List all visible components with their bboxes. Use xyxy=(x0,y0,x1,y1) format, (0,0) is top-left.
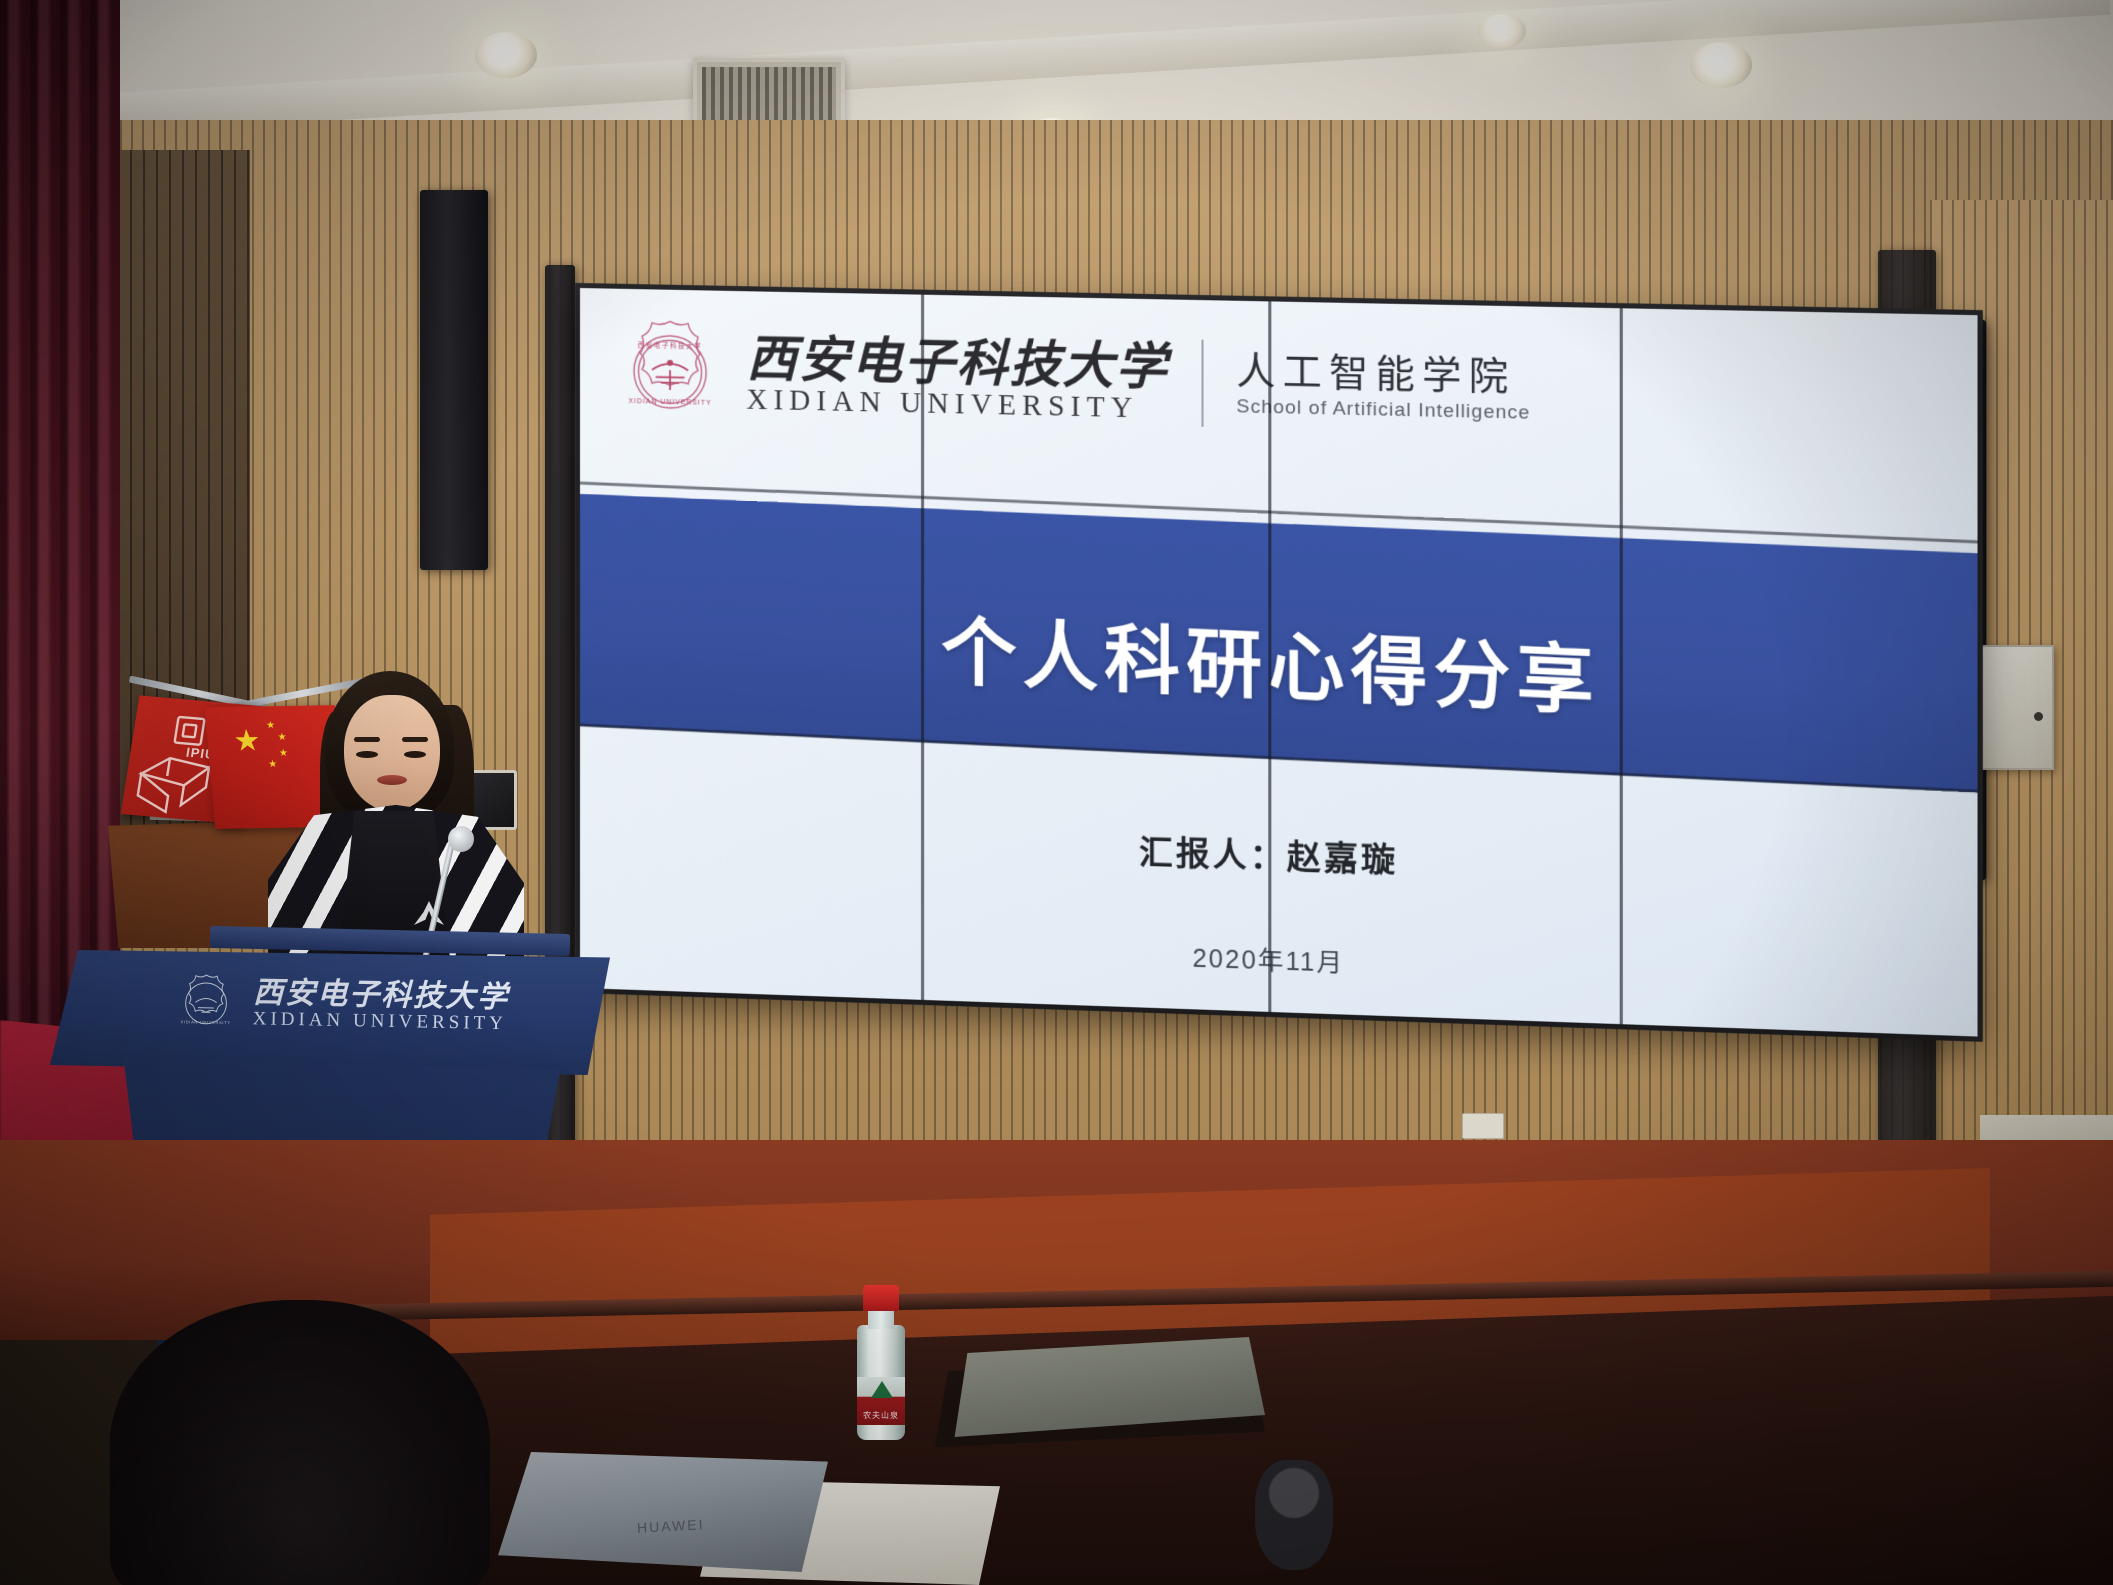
podium-university-branding: XIDIAN UNIVERSITY 西安电子科技大学 XIDIAN UNIVER… xyxy=(174,972,509,1040)
panel-seam-vertical xyxy=(1620,308,1623,1024)
bottle-label: 农夫山泉 xyxy=(857,1377,905,1425)
huawei-laptop[interactable]: HUAWEI xyxy=(498,1452,828,1572)
podium-university-cn: 西安电子科技大学 xyxy=(253,978,510,1013)
wall-outlet xyxy=(1462,1113,1504,1139)
panel-latch-icon xyxy=(2034,712,2043,721)
slide-presenter: 汇报人：赵嘉璇 xyxy=(580,808,1978,901)
svg-text:西安电子科技大学: 西安电子科技大学 xyxy=(638,340,703,350)
slide-date: 2020年11月 xyxy=(580,918,1978,1002)
xidian-university-seal-icon: XIDIAN UNIVERSITY 西安电子科技大学 xyxy=(616,317,724,428)
podium-text-block: 西安电子科技大学 XIDIAN UNIVERSITY xyxy=(253,978,510,1035)
presentation-slide: XIDIAN UNIVERSITY 西安电子科技大学 西安电子科技大学 XIDI… xyxy=(580,288,1978,1037)
wall-speaker-column-left xyxy=(420,190,488,570)
school-name-cn: 人工智能学院 xyxy=(1236,352,1530,397)
laptop-brand-label: HUAWEI xyxy=(636,1516,704,1536)
foreground-audience-silhouette xyxy=(110,1300,490,1585)
bottle-neck xyxy=(868,1309,894,1329)
bottle-brand-cn: 农夫山泉 xyxy=(857,1410,905,1421)
microphone-head-icon xyxy=(448,826,474,852)
university-name-block: 西安电子科技大学 XIDIAN UNIVERSITY xyxy=(746,333,1168,424)
header-divider xyxy=(1201,340,1203,427)
presenter-eye xyxy=(404,751,426,758)
podium-university-en: XIDIAN UNIVERSITY xyxy=(253,1009,509,1035)
presenter-mouth xyxy=(377,775,407,785)
wristwatch xyxy=(1255,1460,1333,1570)
university-name-en: XIDIAN UNIVERSITY xyxy=(746,385,1168,423)
school-name-en: School of Artificial Intelligence xyxy=(1236,397,1530,423)
presenter-face xyxy=(344,695,440,811)
room-photo-scene: XIDIAN UNIVERSITY 西安电子科技大学 西安电子科技大学 XIDI… xyxy=(0,0,2113,1585)
presenter-brow xyxy=(402,737,428,742)
svg-text:XIDIAN UNIVERSITY: XIDIAN UNIVERSITY xyxy=(181,1019,231,1025)
svg-text:XIDIAN UNIVERSITY: XIDIAN UNIVERSITY xyxy=(628,398,711,407)
xidian-seal-icon: XIDIAN UNIVERSITY xyxy=(174,972,237,1035)
bottle-cap xyxy=(863,1285,899,1311)
led-video-wall[interactable]: XIDIAN UNIVERSITY 西安电子科技大学 西安电子科技大学 XIDI… xyxy=(580,288,1978,1037)
ceiling-downlight xyxy=(1478,14,1526,48)
window-curtain xyxy=(0,0,120,1040)
nongfu-mountain-icon xyxy=(871,1381,893,1398)
panel-seam-vertical xyxy=(1268,301,1271,1012)
ceiling-downlight xyxy=(1690,42,1752,88)
presenter-brow xyxy=(354,737,380,742)
water-bottle: 农夫山泉 xyxy=(855,1285,907,1440)
university-name-cn: 西安电子科技大学 xyxy=(746,333,1168,392)
ceiling-downlight xyxy=(475,32,537,78)
presenter-eye xyxy=(356,751,378,758)
panel-seam-vertical xyxy=(921,295,924,1000)
presenter-person xyxy=(240,665,540,965)
slide-header: XIDIAN UNIVERSITY 西安电子科技大学 西安电子科技大学 XIDI… xyxy=(616,317,1530,446)
school-name-block: 人工智能学院 School of Artificial Intelligence xyxy=(1236,352,1530,422)
